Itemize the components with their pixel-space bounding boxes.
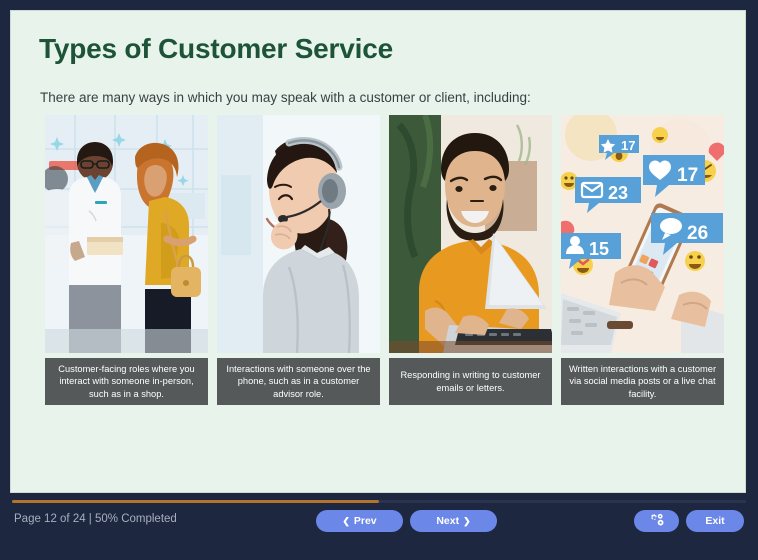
svg-text:15: 15 [589, 239, 609, 259]
slide-subtitle: There are many ways in which you may spe… [40, 90, 531, 105]
svg-text:23: 23 [608, 183, 628, 203]
service-card: Customer-facing roles where you interact… [45, 115, 208, 405]
svg-text:26: 26 [687, 223, 708, 244]
exit-button-label: Exit [705, 515, 724, 527]
svg-text:17: 17 [621, 138, 635, 153]
card-row: Customer-facing roles where you interact… [45, 115, 717, 405]
page-title: Types of Customer Service [39, 33, 393, 65]
chevron-right-icon: ❯ [463, 517, 471, 526]
next-button-label: Next [436, 515, 459, 527]
exit-button[interactable]: Exit [686, 510, 744, 532]
card-caption: Written interactions with a customer via… [561, 358, 724, 405]
call-centre-agent-with-headset-image [217, 115, 380, 353]
man-typing-on-laptop-image [389, 115, 552, 353]
service-card: Responding in writing to customer emails… [389, 115, 552, 405]
settings-button[interactable] [634, 510, 679, 532]
card-caption: Customer-facing roles where you interact… [45, 358, 208, 405]
card-caption: Interactions with someone over the phone… [217, 358, 380, 405]
service-card: 17 23 15 [561, 115, 724, 405]
card-caption: Responding in writing to customer emails… [389, 358, 552, 405]
svg-text:17: 17 [677, 165, 698, 186]
next-button[interactable]: Next ❯ [410, 510, 497, 532]
pharmacist-serving-customer-in-store-image [45, 115, 208, 353]
prev-button[interactable]: ❮ Prev [316, 510, 403, 532]
slide-canvas: Types of Customer Service There are many… [10, 10, 746, 493]
gears-icon [649, 513, 664, 530]
chevron-left-icon: ❮ [342, 517, 350, 526]
progress-bar-fill [12, 500, 379, 503]
progress-bar-track [12, 500, 746, 503]
page-status-text: Page 12 of 24 | 50% Completed [14, 513, 177, 525]
prev-button-label: Prev [354, 515, 377, 527]
service-card: Interactions with someone over the phone… [217, 115, 380, 405]
course-player: Types of Customer Service There are many… [0, 0, 758, 560]
social-media-notifications-on-phone-image: 17 23 15 [561, 115, 724, 353]
